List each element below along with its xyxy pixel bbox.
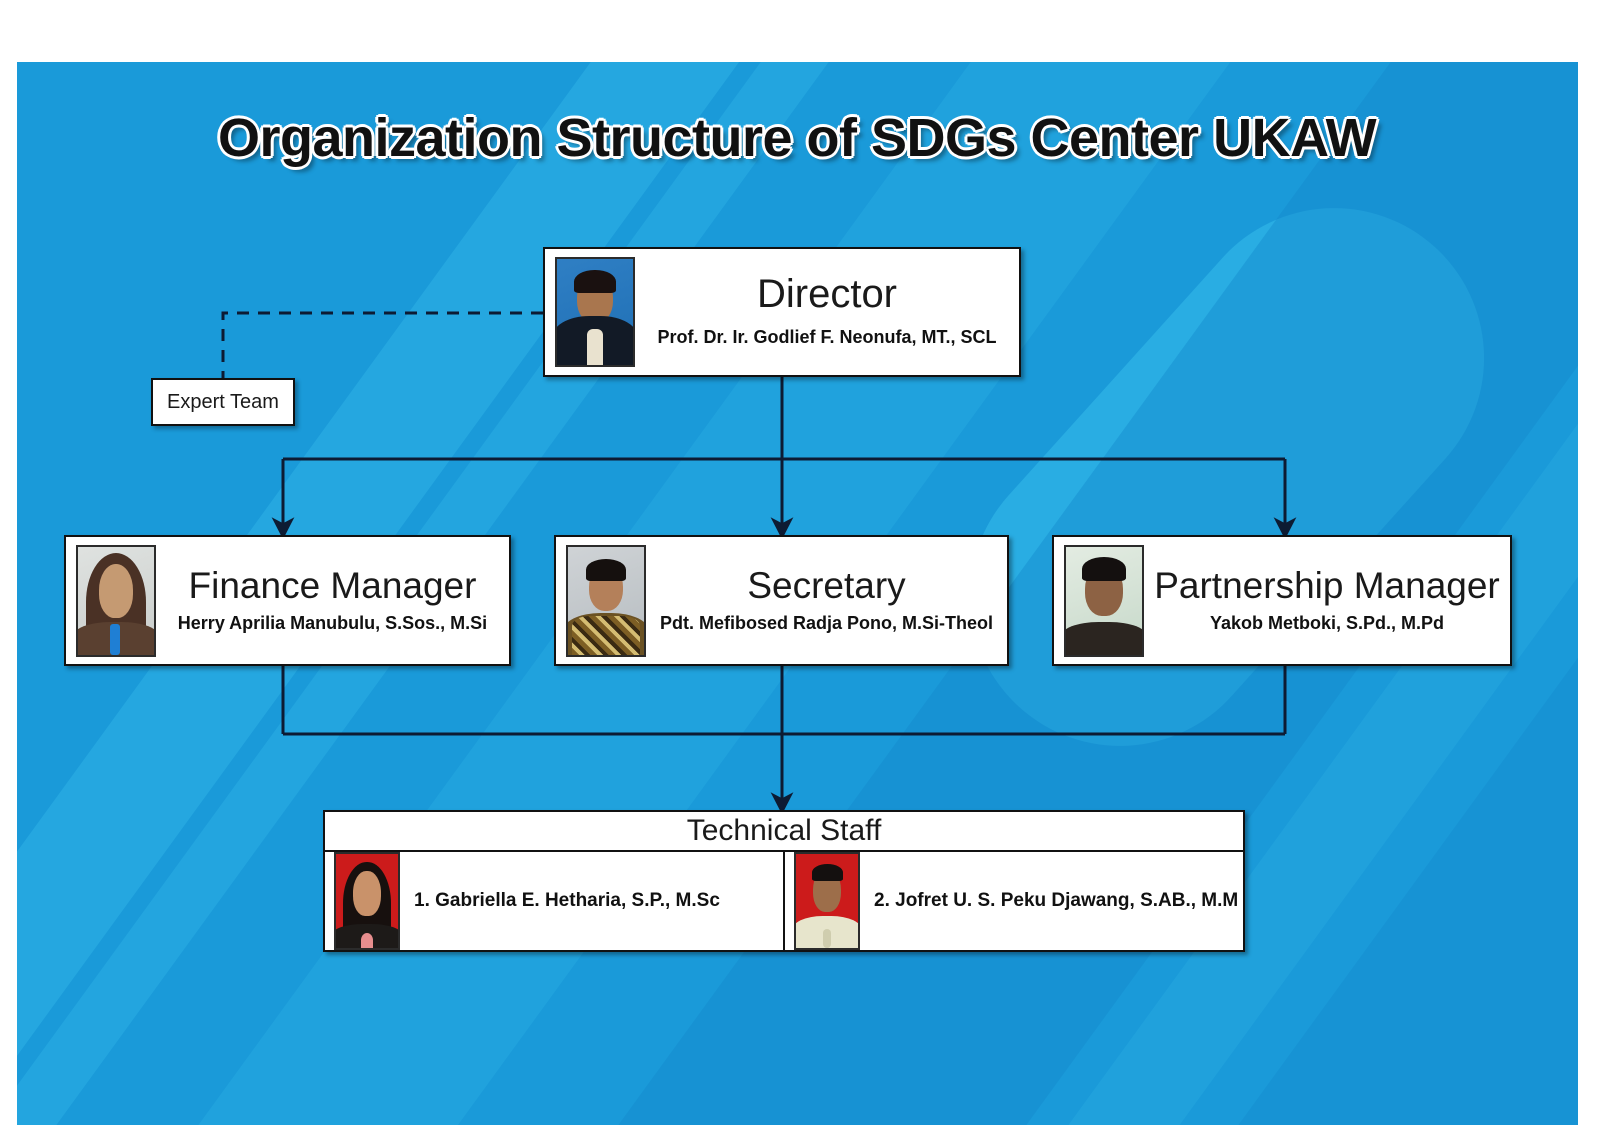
portrait-director <box>555 257 635 367</box>
finance-manager-role: Finance Manager <box>189 567 477 606</box>
finance-manager-person: Herry Aprilia Manubulu, S.Sos., M.Si <box>178 613 487 634</box>
partnership-manager-person: Yakob Metboki, S.Pd., M.Pd <box>1210 613 1444 634</box>
node-expert-team[interactable]: Expert Team <box>151 378 295 426</box>
secretary-text: Secretary Pdt. Mefibosed Radja Pono, M.S… <box>646 537 1007 664</box>
expert-team-label: Expert Team <box>167 392 279 413</box>
portrait-tech-staff-1 <box>334 852 400 950</box>
technical-staff-header: Technical Staff <box>325 812 1243 852</box>
portrait-finance-manager <box>76 545 156 657</box>
secretary-person: Pdt. Mefibosed Radja Pono, M.Si-Theol <box>660 613 993 634</box>
node-technical-staff[interactable]: Technical Staff 1. Gabriella E. Hetharia… <box>323 810 1245 952</box>
director-person: Prof. Dr. Ir. Godlief F. Neonufa, MT., S… <box>657 327 996 348</box>
technical-staff-member-1[interactable]: 1. Gabriella E. Hetharia, S.P., M.Sc <box>325 852 783 950</box>
portrait-secretary <box>566 545 646 657</box>
org-chart-slide: Organization Structure of SDGs Center UK… <box>17 62 1578 1125</box>
node-finance-manager[interactable]: Finance Manager Herry Aprilia Manubulu, … <box>64 535 511 666</box>
technical-staff-member-1-label: 1. Gabriella E. Hetharia, S.P., M.Sc <box>414 890 720 912</box>
technical-staff-member-2[interactable]: 2. Jofret U. S. Peku Djawang, S.AB., M.M <box>783 852 1243 950</box>
technical-staff-member-2-label: 2. Jofret U. S. Peku Djawang, S.AB., M.M <box>874 890 1238 912</box>
page-title: Organization Structure of SDGs Center UK… <box>147 107 1447 169</box>
node-secretary[interactable]: Secretary Pdt. Mefibosed Radja Pono, M.S… <box>554 535 1009 666</box>
finance-manager-text: Finance Manager Herry Aprilia Manubulu, … <box>156 537 509 664</box>
director-role: Director <box>757 273 897 315</box>
background-capsule-shape <box>908 146 1546 807</box>
partnership-manager-text: Partnership Manager Yakob Metboki, S.Pd.… <box>1144 537 1510 664</box>
portrait-tech-staff-2 <box>794 852 860 950</box>
portrait-partnership-manager <box>1064 545 1144 657</box>
technical-staff-members: 1. Gabriella E. Hetharia, S.P., M.Sc 2. … <box>325 852 1243 950</box>
node-partnership-manager[interactable]: Partnership Manager Yakob Metboki, S.Pd.… <box>1052 535 1512 666</box>
partnership-manager-role: Partnership Manager <box>1154 567 1500 606</box>
director-text: Director Prof. Dr. Ir. Godlief F. Neonuf… <box>635 249 1019 375</box>
node-director[interactable]: Director Prof. Dr. Ir. Godlief F. Neonuf… <box>543 247 1021 377</box>
secretary-role: Secretary <box>747 567 905 606</box>
